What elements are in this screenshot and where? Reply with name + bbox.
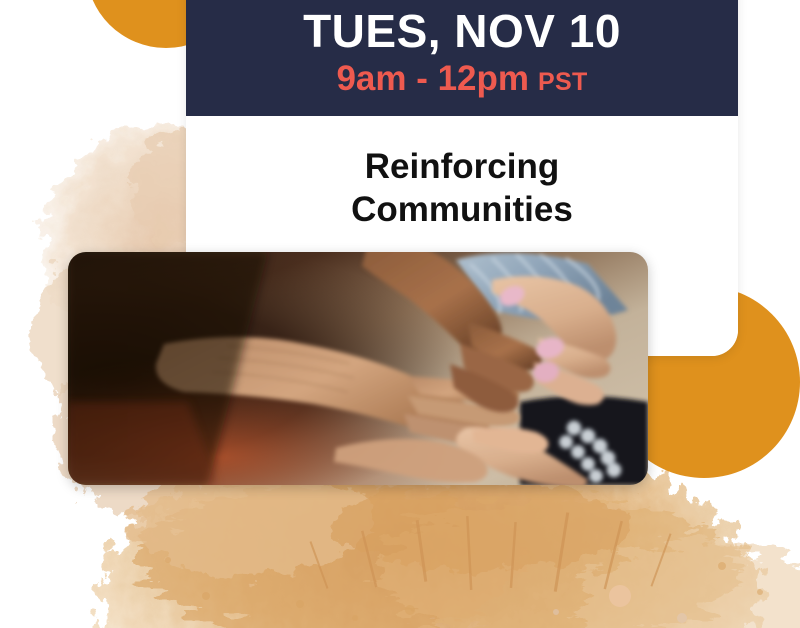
event-title: Reinforcing Communities bbox=[351, 146, 573, 231]
event-timezone: PST bbox=[538, 68, 588, 97]
event-time: 9am - 12pm bbox=[336, 61, 529, 98]
event-card-header: TUES, NOV 10 9am - 12pm PST bbox=[186, 0, 738, 116]
paint-dot bbox=[677, 613, 687, 623]
paint-dot bbox=[553, 609, 559, 615]
paint-dot bbox=[609, 585, 631, 607]
event-time-row: 9am - 12pm PST bbox=[336, 61, 587, 98]
event-date: TUES, NOV 10 bbox=[303, 7, 621, 55]
hands-stacked-together-photo bbox=[68, 252, 648, 485]
poster-canvas: TUES, NOV 10 9am - 12pm PST Reinforcing … bbox=[0, 0, 800, 628]
